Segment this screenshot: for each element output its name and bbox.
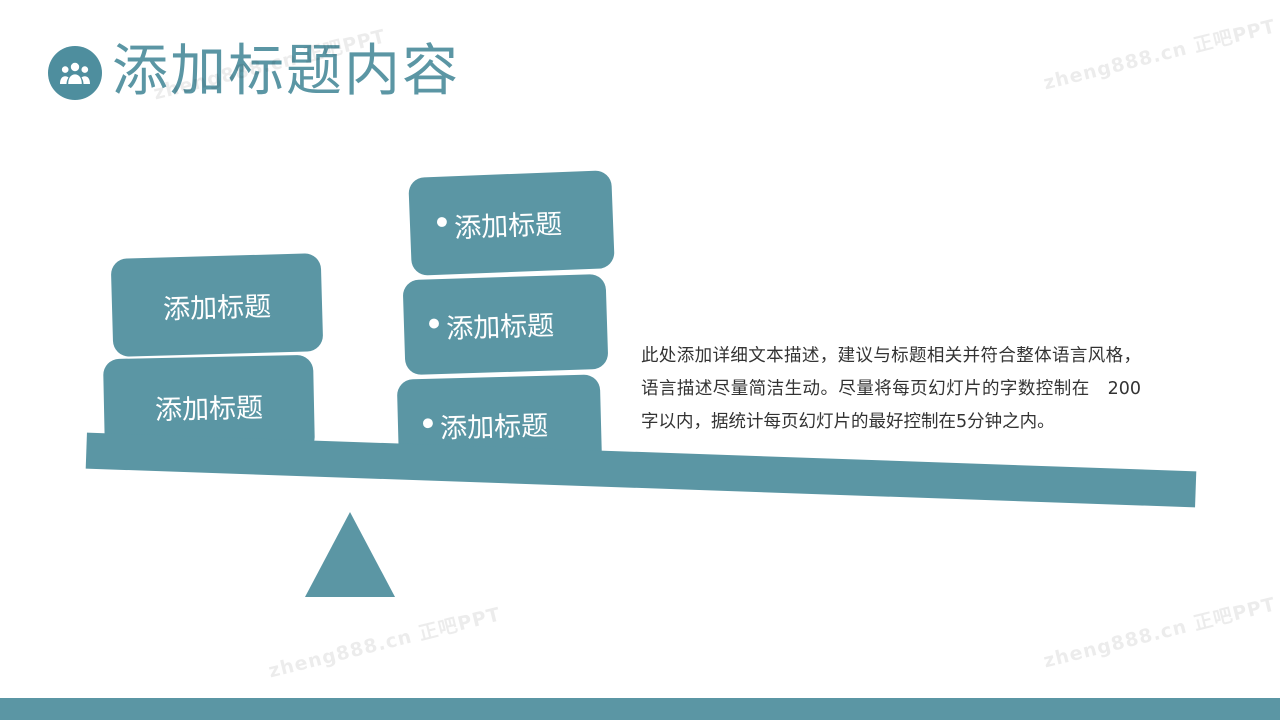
- topic-box-mid-top[interactable]: • 添加标题: [408, 170, 615, 276]
- seesaw-beam: [86, 433, 1197, 508]
- people-group-icon: [48, 46, 102, 100]
- topic-box-left-top[interactable]: 添加标题: [111, 253, 324, 357]
- bullet-icon: •: [418, 407, 439, 442]
- topic-box-label: 添加标题: [440, 404, 549, 446]
- topic-box-label: 添加标题: [155, 385, 264, 426]
- watermark: zheng888.cn 正吧PPT: [265, 600, 503, 684]
- topic-box-label: 添加标题: [453, 202, 562, 245]
- page-title: 添加标题内容: [112, 36, 460, 108]
- body-paragraph: 此处添加详细文本描述，建议与标题相关并符合整体语言风格，语言描述尽量简洁生动。尽…: [641, 340, 1141, 439]
- bullet-icon: •: [431, 206, 452, 241]
- watermark: zheng888.cn 正吧PPT: [1040, 590, 1278, 674]
- topic-box-label: 添加标题: [162, 284, 271, 326]
- bullet-icon: •: [423, 307, 444, 342]
- slide-header: 添加标题内容: [0, 0, 1280, 140]
- seesaw-triangle: [305, 512, 395, 597]
- topic-box-label: 添加标题: [445, 303, 554, 345]
- footer-bar: [0, 698, 1280, 720]
- topic-box-mid-middle[interactable]: • 添加标题: [403, 274, 609, 375]
